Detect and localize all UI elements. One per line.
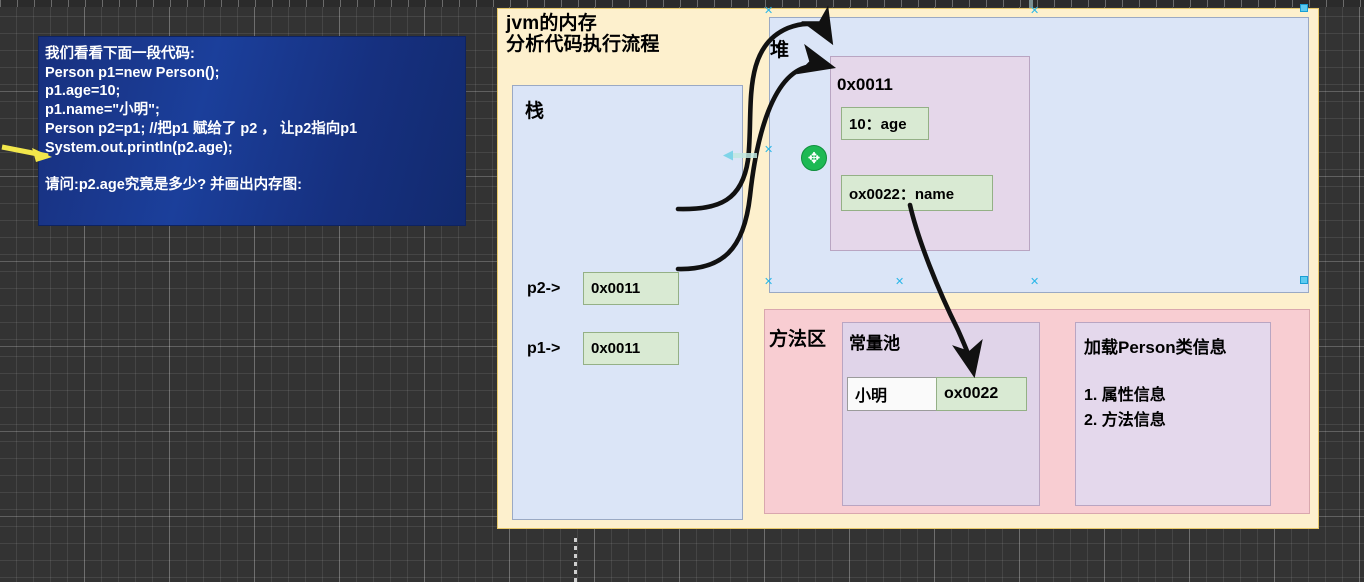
heap-label: 堆 (770, 35, 789, 62)
heap-object-field-age[interactable]: 10：age (841, 107, 929, 140)
stack-row-0-value[interactable]: 0x0011 (583, 272, 679, 305)
selection-handle-heap-tr[interactable] (1300, 4, 1308, 12)
heap-object-address: 0x0011 (837, 75, 893, 95)
constant-pool-label: 常量池 (849, 329, 900, 354)
connector-hint-arrow-icon[interactable] (723, 150, 757, 161)
selection-handle-heap-ml[interactable]: ✕ (764, 145, 773, 154)
class-info-item-0: 1. 属性信息 (1084, 381, 1166, 405)
constant-pool-entry-key[interactable]: 小明 (847, 377, 937, 411)
code-note-panel[interactable]: 我们看看下面一段代码: Person p1=new Person(); p1.a… (38, 36, 466, 226)
method-area-region[interactable]: 方法区 常量池 小明 ox0022 加载Person类信息 1. 属性信息 2.… (764, 309, 1310, 514)
class-info-title: 加载Person类信息 (1084, 333, 1227, 358)
stack-label: 栈 (525, 96, 544, 123)
heap-object-field-name[interactable]: ox0022：name (841, 175, 993, 211)
stack-row-1-name: p1-> (527, 340, 560, 358)
page-title: jvm的内存 分析代码执行流程 (506, 13, 660, 56)
selection-handle-heap-tc[interactable]: ✕ (1030, 6, 1039, 15)
class-info-item-1: 2. 方法信息 (1084, 406, 1166, 430)
selection-handle-heap-br[interactable] (1300, 276, 1308, 284)
selection-handle-heap-bm[interactable]: ✕ (895, 277, 904, 286)
method-area-label: 方法区 (769, 324, 826, 351)
top-ruler-strip[interactable] (0, 0, 1364, 7)
stack-region[interactable]: 栈 p2-> 0x0011 p1-> 0x0011 (512, 85, 743, 520)
vertical-guide-bottom (574, 538, 577, 582)
heap-object-box[interactable]: 0x0011 10：age ox0022：name (830, 56, 1030, 251)
constant-pool-box[interactable]: 常量池 小明 ox0022 (842, 322, 1040, 506)
diagram-canvas[interactable]: jvm的内存 分析代码执行流程 栈 p2-> 0x0011 p1-> 0x001… (497, 8, 1319, 529)
code-note-text: 我们看看下面一段代码: Person p1=new Person(); p1.a… (45, 45, 455, 195)
selection-handle-heap-tl[interactable]: ✕ (764, 6, 773, 15)
move-handle-icon[interactable]: ✥ (801, 145, 827, 171)
selection-handle-heap-bc[interactable]: ✕ (1030, 277, 1039, 286)
selection-handle-heap-bl[interactable]: ✕ (764, 277, 773, 286)
heap-region[interactable]: 0x0011 10：age ox0022：name (769, 17, 1309, 293)
stack-row-1-value[interactable]: 0x0011 (583, 332, 679, 365)
constant-pool-entry-value[interactable]: ox0022 (936, 377, 1027, 411)
class-info-box[interactable]: 加载Person类信息 1. 属性信息 2. 方法信息 (1075, 322, 1271, 506)
stack-row-0-name: p2-> (527, 280, 560, 298)
move-arrows-glyph: ✥ (808, 151, 821, 166)
